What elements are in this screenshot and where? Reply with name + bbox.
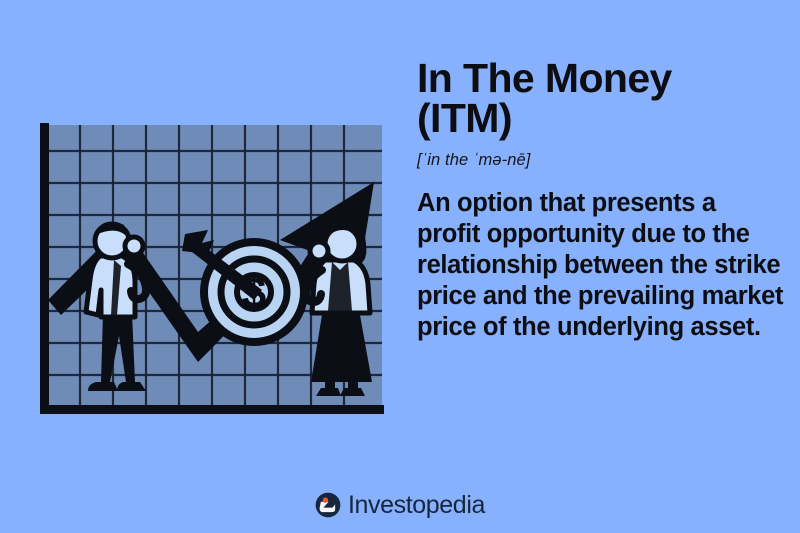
- y-axis: [40, 123, 49, 414]
- infographic-page: $: [0, 0, 800, 533]
- page-title: In The Money (ITM): [417, 58, 785, 138]
- illustration-svg: $: [22, 110, 402, 430]
- definition-panel: In The Money (ITM) [ˈin the ˈmə-nē] An o…: [417, 58, 785, 343]
- illustration-chart-graphic: $: [22, 110, 402, 430]
- brand-footer: Investopedia: [0, 492, 800, 518]
- investopedia-logo-icon: [315, 492, 341, 518]
- pronunciation-text: [ˈin the ˈmə-nē]: [417, 151, 785, 170]
- x-axis: [40, 405, 384, 414]
- definition-text: An option that presents a profit opportu…: [417, 188, 785, 343]
- person-right-figure: [306, 220, 372, 396]
- brand-name-text: Investopedia: [348, 493, 485, 518]
